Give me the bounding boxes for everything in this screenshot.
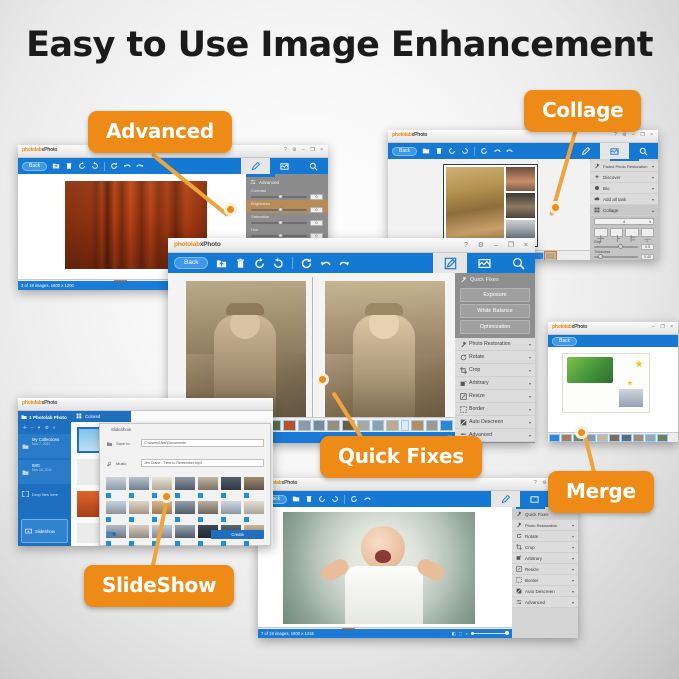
slider-track[interactable] bbox=[251, 209, 307, 211]
layout-1-3[interactable] bbox=[610, 228, 624, 237]
titlebar: photolabxPhoto ? ⚙ – ❐ × bbox=[168, 238, 535, 253]
chevron-down-icon[interactable]: ▾ bbox=[529, 381, 531, 386]
photo-after[interactable] bbox=[325, 281, 445, 421]
dialog-footer[interactable]: Create bbox=[100, 525, 270, 543]
dialog-check[interactable] bbox=[152, 493, 157, 498]
slideshow-footer-label: SlideShow bbox=[35, 529, 55, 534]
dialog-thumb[interactable] bbox=[106, 477, 126, 490]
layout-2x2[interactable] bbox=[594, 228, 608, 237]
dialog-field-save-to[interactable]: Save to C:\Users\User\Documents bbox=[100, 433, 270, 453]
status-bar: 7 of 19 images, 1600 x 1215 ◧ ⬚ ⌕ bbox=[258, 629, 512, 638]
filmstrip-item[interactable] bbox=[401, 420, 409, 431]
rotate-left-icon[interactable] bbox=[78, 162, 86, 170]
callout-label: Merge bbox=[566, 479, 636, 503]
panel-row[interactable]: Add all task▾ bbox=[590, 194, 658, 205]
crop-icon bbox=[460, 367, 466, 373]
layout-3-bottom[interactable] bbox=[641, 228, 655, 237]
undo-icon[interactable] bbox=[320, 258, 331, 269]
chevron-down-icon[interactable]: ▾ bbox=[529, 420, 531, 425]
magnifier-icon[interactable]: ⌕ bbox=[466, 631, 468, 636]
wrench-icon bbox=[460, 341, 466, 347]
rotate-left-icon[interactable] bbox=[254, 258, 265, 269]
page-title: Easy to Use Image Enhancement bbox=[0, 25, 679, 65]
undo-icon[interactable] bbox=[363, 495, 371, 503]
toolbar[interactable]: Back bbox=[548, 335, 678, 347]
refresh-icon[interactable] bbox=[480, 147, 488, 155]
refresh-icon[interactable] bbox=[350, 495, 358, 503]
chevron-down-icon[interactable]: ▾ bbox=[649, 220, 651, 224]
collage-slider[interactable]: Thickness 0.40 bbox=[594, 250, 654, 260]
quickfixes-panel-header: Quick Fixes bbox=[455, 273, 535, 286]
baby-face bbox=[361, 526, 405, 570]
filmstrip-item[interactable] bbox=[597, 434, 608, 442]
dialog-field-music[interactable]: Music Jim Crane - Time to Remember.mp3 bbox=[100, 453, 270, 475]
arbitrary-icon bbox=[516, 555, 522, 561]
resize-icon bbox=[460, 393, 466, 399]
window-buttons[interactable]: ? ⚙ – ❐ × bbox=[464, 241, 530, 249]
dialog-check[interactable] bbox=[221, 493, 226, 498]
dialog-check[interactable] bbox=[175, 493, 180, 498]
editor-body bbox=[548, 347, 678, 442]
panel-row[interactable]: Rotate▾ bbox=[512, 531, 578, 542]
filmstrip-item[interactable] bbox=[426, 420, 439, 431]
sidebar-item-img[interactable]: IMG Nov 18, 2011 bbox=[18, 460, 71, 484]
resize-icon bbox=[516, 566, 522, 572]
redo-icon[interactable] bbox=[339, 258, 350, 269]
dialog-thumb[interactable] bbox=[175, 477, 195, 490]
filmstrip-item[interactable] bbox=[657, 434, 668, 442]
filmstrip-item[interactable] bbox=[621, 434, 632, 442]
dialog-check[interactable] bbox=[198, 493, 203, 498]
folder-icon bbox=[22, 437, 29, 455]
callout-collage[interactable]: Collage bbox=[524, 90, 641, 132]
photo-canvas[interactable] bbox=[562, 353, 650, 413]
dialog-check[interactable] bbox=[198, 517, 203, 522]
toolbar-divider bbox=[104, 162, 105, 171]
panel-row[interactable]: Border▾ bbox=[512, 575, 578, 586]
dialog-check[interactable] bbox=[106, 493, 111, 498]
panel-row[interactable]: Resize▾ bbox=[512, 564, 578, 575]
filmstrip-item[interactable] bbox=[440, 420, 453, 431]
rotate-icon bbox=[460, 354, 466, 360]
quickfix-buttons[interactable]: Exposure White Balance Optimization bbox=[455, 288, 535, 334]
sidebar-toolbar[interactable]: ✛ – ✦ ⚙ ⌕ bbox=[18, 424, 71, 434]
folder-icon bbox=[22, 463, 29, 481]
dialog-thumb[interactable] bbox=[244, 501, 264, 514]
folder-icon bbox=[106, 434, 113, 452]
sliders-icon bbox=[516, 599, 522, 605]
tab-search[interactable] bbox=[501, 253, 535, 273]
photo-divider bbox=[312, 277, 313, 425]
panel-row-arbitrary[interactable]: Arbitrary▾ bbox=[455, 377, 535, 390]
titlebar: photolabxPhoto ? ⚙ – ❐ × bbox=[258, 478, 578, 491]
layout-buttons[interactable] bbox=[594, 228, 654, 237]
card-star bbox=[627, 380, 633, 386]
leader-dot-merge bbox=[575, 426, 588, 439]
panel-row-photo-restoration[interactable]: Photo Restoration▾ bbox=[455, 338, 535, 351]
dialog-thumb[interactable] bbox=[152, 477, 172, 490]
circle-icon bbox=[594, 185, 600, 191]
titlebar: photolabxPhoto – ❐ × bbox=[548, 322, 678, 335]
arbitrary-icon bbox=[460, 380, 466, 386]
tab-edit[interactable] bbox=[241, 158, 270, 174]
slideshow-dialog[interactable]: Slideshow Save to C:\Users\User\Document… bbox=[99, 423, 271, 546]
optimization-button[interactable]: Optimization bbox=[460, 320, 530, 334]
back-button[interactable]: Back bbox=[22, 162, 47, 171]
rotate-right-icon[interactable] bbox=[461, 147, 469, 155]
crop-icon bbox=[516, 544, 522, 550]
field-label: Music bbox=[116, 461, 138, 466]
advanced-panel-header: Advanced bbox=[246, 177, 328, 187]
panel-row-resize[interactable]: Resize▾ bbox=[455, 390, 535, 403]
dialog-thumb[interactable] bbox=[221, 477, 241, 490]
filmstrip-item[interactable] bbox=[633, 434, 644, 442]
toolbar[interactable]: Back bbox=[258, 491, 578, 507]
panel-row-crop[interactable]: Crop▾ bbox=[455, 364, 535, 377]
minus-icon[interactable]: – bbox=[31, 425, 33, 431]
status-text: 3 of 19 images, 1600 x 1200 bbox=[21, 283, 74, 288]
photo-canvas[interactable] bbox=[283, 512, 475, 624]
tab-search[interactable] bbox=[629, 143, 658, 159]
dialog-thumb[interactable] bbox=[106, 501, 126, 514]
window-buttons[interactable]: – ❐ × bbox=[652, 324, 675, 330]
titlebar: photolabxPhoto bbox=[18, 398, 273, 411]
panel-row[interactable]: Bio▾ bbox=[590, 183, 658, 194]
descreen-icon bbox=[516, 588, 522, 594]
border-icon bbox=[460, 406, 466, 412]
exposure-button[interactable]: Exposure bbox=[460, 288, 530, 302]
callout-quickfixes[interactable]: Quick Fixes bbox=[320, 436, 482, 478]
panel-row[interactable]: Photo Restoration▾ bbox=[512, 520, 578, 531]
slider-item: Saturation0 bbox=[246, 213, 328, 226]
star-icon[interactable]: ✦ bbox=[37, 425, 41, 431]
tab-collage[interactable] bbox=[270, 158, 299, 174]
wrench-icon bbox=[516, 522, 522, 528]
app-brand: photolabxPhoto bbox=[22, 400, 57, 406]
fit-icon[interactable]: ◧ bbox=[452, 631, 456, 636]
slider-value[interactable]: 0 bbox=[310, 207, 323, 213]
music-note-icon bbox=[106, 454, 113, 472]
grid-icon bbox=[76, 413, 82, 420]
leader-dot-quickfixes bbox=[316, 373, 329, 386]
callout-label: Advanced bbox=[106, 119, 214, 143]
layout-2-left[interactable] bbox=[625, 228, 639, 237]
collage-canvas[interactable] bbox=[443, 164, 538, 247]
create-button[interactable]: Create bbox=[211, 530, 264, 539]
slideshow-footer-button[interactable]: SlideShow bbox=[21, 519, 68, 543]
filmstrip-item[interactable] bbox=[645, 434, 656, 442]
collage-cell[interactable] bbox=[506, 167, 535, 191]
leader-dot-advanced bbox=[224, 203, 237, 216]
sidebar-item-label: Drop files here bbox=[32, 492, 58, 497]
filmstrip-item[interactable] bbox=[545, 252, 556, 260]
rotate-right-icon[interactable] bbox=[273, 258, 284, 269]
toolbar[interactable]: Back bbox=[168, 253, 535, 273]
dialog-check[interactable] bbox=[129, 517, 134, 522]
wrench-icon bbox=[460, 276, 467, 283]
sidebar-item-sub: Nov 7, 2011 bbox=[32, 442, 59, 446]
filmstrip-item[interactable] bbox=[411, 420, 424, 431]
editor-body: Quick Fixes Photo Restoration▾ Rotate▾ C… bbox=[258, 507, 578, 638]
tab-collage[interactable] bbox=[520, 491, 549, 507]
quickfixes-panel[interactable]: Quick Fixes Exposure White Balance Optim… bbox=[455, 273, 535, 443]
white-balance-button[interactable]: White Balance bbox=[460, 304, 530, 318]
open-folder-icon[interactable] bbox=[216, 258, 227, 269]
dialog-check[interactable] bbox=[244, 517, 249, 522]
callout-label: SlideShow bbox=[102, 573, 216, 597]
toolbar-divider bbox=[344, 495, 345, 504]
tab-strip[interactable] bbox=[571, 143, 658, 159]
chevron-down-icon[interactable]: ▾ bbox=[529, 355, 531, 360]
cloud-icon bbox=[594, 196, 600, 202]
add-photos-icon[interactable] bbox=[106, 525, 117, 543]
delete-icon[interactable] bbox=[65, 162, 73, 170]
card-star bbox=[635, 360, 643, 368]
chevron-down-icon[interactable]: ▾ bbox=[529, 342, 531, 347]
rotate-left-icon[interactable] bbox=[318, 495, 326, 503]
slider-track[interactable] bbox=[594, 246, 638, 248]
panel-row[interactable]: Arbitrary▾ bbox=[512, 553, 578, 564]
slideshow-icon bbox=[25, 522, 32, 540]
filmstrip[interactable] bbox=[548, 432, 678, 442]
dialog-check[interactable] bbox=[244, 493, 249, 498]
chevron-down-icon[interactable]: ▾ bbox=[529, 368, 531, 373]
callout-advanced[interactable]: Advanced bbox=[88, 111, 232, 153]
filmstrip-item[interactable] bbox=[549, 434, 560, 442]
slider-track[interactable] bbox=[251, 235, 307, 237]
delete-icon[interactable] bbox=[435, 147, 443, 155]
card-window[interactable]: photolabxPhoto – ❐ × Back bbox=[548, 322, 678, 442]
filmstrip-item[interactable] bbox=[298, 420, 311, 431]
filmstrip-item[interactable] bbox=[313, 420, 326, 431]
panel-row[interactable]: Discover▾ bbox=[590, 172, 658, 183]
sliders-icon bbox=[250, 179, 256, 185]
collage-panel[interactable]: Faded Photo Restoration▾ Discover▾ Bio▾ … bbox=[590, 159, 658, 260]
card-art bbox=[567, 357, 613, 383]
chevron-down-icon[interactable]: ▾ bbox=[529, 394, 531, 399]
grid-icon bbox=[594, 207, 600, 213]
tab-strip[interactable] bbox=[241, 158, 328, 174]
gear-icon[interactable]: ⚙ bbox=[45, 425, 49, 431]
dialog-thumb[interactable] bbox=[198, 501, 218, 514]
collage-controls[interactable]: 4 ▾ Gap 0.5 Thickness 0.40 bbox=[590, 216, 658, 260]
filmstrip-item[interactable] bbox=[386, 420, 399, 431]
dialog-check[interactable] bbox=[129, 493, 134, 498]
callout-label: Collage bbox=[542, 98, 623, 122]
dialog-thumb[interactable] bbox=[221, 501, 241, 514]
open-folder-icon[interactable] bbox=[422, 147, 430, 155]
dialog-thumb[interactable] bbox=[198, 477, 218, 490]
panel-row[interactable]: Crop▾ bbox=[512, 542, 578, 553]
slider-value[interactable]: 0.40 bbox=[641, 254, 654, 260]
dialog-check[interactable] bbox=[175, 517, 180, 522]
dialog-title: Slideshow bbox=[100, 424, 270, 433]
app-brand: photolabxPhoto bbox=[22, 147, 57, 153]
redo-icon[interactable] bbox=[506, 147, 514, 155]
sidebar-header: 1 Photolab Photo bbox=[18, 411, 71, 424]
slider-track[interactable] bbox=[594, 256, 638, 258]
search-icon[interactable]: ⌕ bbox=[53, 425, 55, 431]
refresh-icon[interactable] bbox=[301, 258, 312, 269]
slideshow-window[interactable]: photolabxPhoto 1 Photolab Photo ✛ – ✦ ⚙ … bbox=[18, 398, 273, 546]
dialog-thumb[interactable] bbox=[244, 477, 264, 490]
dialog-thumb[interactable] bbox=[129, 477, 149, 490]
rotate-right-icon[interactable] bbox=[91, 162, 99, 170]
window-buttons[interactable]: ? ⚙ – ❐ × bbox=[284, 147, 325, 153]
baby-mouth bbox=[375, 550, 391, 563]
refresh-icon[interactable] bbox=[110, 162, 118, 170]
filmstrip-item[interactable] bbox=[561, 434, 572, 442]
descreen-icon bbox=[460, 419, 466, 425]
panel-row[interactable]: Faded Photo Restoration▾ bbox=[590, 161, 658, 172]
leader-dot-slideshow bbox=[160, 490, 173, 503]
panel-row-border[interactable]: Border▾ bbox=[455, 403, 535, 416]
delete-icon[interactable] bbox=[305, 495, 313, 503]
window-buttons[interactable]: ? ⚙ – ❐ × bbox=[614, 132, 655, 138]
panel-row-auto-descreen[interactable]: Auto Descreen▾ bbox=[455, 416, 535, 429]
open-folder-icon[interactable] bbox=[292, 495, 300, 503]
baby-shirt bbox=[345, 566, 423, 624]
tab-search[interactable] bbox=[299, 158, 328, 174]
field-label: Save to bbox=[116, 441, 138, 446]
dashed-folder-icon bbox=[22, 491, 29, 497]
undo-icon[interactable] bbox=[123, 162, 131, 170]
slider-item: Contrast0 bbox=[246, 187, 328, 200]
library-body: 1 Photolab Photo ✛ – ✦ ⚙ ⌕ My Collection… bbox=[18, 411, 273, 546]
status-text: 7 of 19 images, 1600 x 1215 bbox=[261, 631, 314, 636]
delete-icon[interactable] bbox=[235, 258, 246, 269]
callout-merge[interactable]: Merge bbox=[548, 471, 654, 513]
merge-panel[interactable]: Quick Fixes Photo Restoration▾ Rotate▾ C… bbox=[512, 507, 578, 638]
save-to-input[interactable]: C:\Users\User\Documents bbox=[141, 439, 264, 447]
rotate-right-icon[interactable] bbox=[331, 495, 339, 503]
filmstrip-item[interactable] bbox=[372, 420, 385, 431]
app-brand: photolabxPhoto bbox=[552, 324, 587, 330]
redo-icon[interactable] bbox=[136, 162, 144, 170]
library-tab[interactable]: Colored bbox=[71, 411, 131, 422]
dialog-thumb[interactable] bbox=[175, 501, 195, 514]
panel-row[interactable]: Advanced▾ bbox=[512, 597, 578, 608]
library-sidebar[interactable]: 1 Photolab Photo ✛ – ✦ ⚙ ⌕ My Collection… bbox=[18, 411, 71, 546]
chevron-down-icon[interactable]: ▾ bbox=[529, 407, 531, 412]
panel-row-rotate[interactable]: Rotate▾ bbox=[455, 351, 535, 364]
tab-collage[interactable] bbox=[600, 143, 629, 159]
panel-row[interactable]: Auto Descreen▾ bbox=[512, 586, 578, 597]
back-button[interactable]: Back bbox=[174, 257, 208, 270]
app-brand: photolabxPhoto bbox=[392, 132, 427, 138]
border-icon bbox=[516, 577, 522, 583]
collage-cell-main[interactable] bbox=[446, 167, 504, 244]
dialog-check[interactable] bbox=[221, 517, 226, 522]
collage-cell[interactable] bbox=[506, 193, 535, 217]
callout-slideshow[interactable]: SlideShow bbox=[84, 565, 234, 607]
slider-value[interactable]: 0.5 bbox=[641, 244, 654, 250]
wrench-icon bbox=[594, 163, 600, 169]
slider-value[interactable]: 0 bbox=[310, 220, 323, 226]
wrench-icon bbox=[516, 511, 522, 517]
slider-track[interactable] bbox=[251, 196, 307, 198]
app-brand: photolabxPhoto bbox=[174, 241, 221, 248]
callout-label: Quick Fixes bbox=[338, 444, 464, 468]
tab-edit[interactable] bbox=[571, 143, 600, 159]
filmstrip-item[interactable] bbox=[283, 420, 296, 431]
toolbar[interactable]: Back bbox=[388, 143, 658, 159]
sidebar-item-my-collections[interactable]: My Collections Nov 7, 2011 bbox=[18, 434, 71, 458]
template-select[interactable]: 4 ▾ bbox=[594, 218, 654, 225]
card-photo bbox=[618, 388, 644, 408]
dialog-thumb[interactable] bbox=[129, 501, 149, 514]
zoom-slider[interactable] bbox=[471, 633, 509, 634]
merge-window[interactable]: photolabxPhoto ? ⚙ – ❐ × Back Quick Fixe… bbox=[258, 478, 578, 638]
zoom-controls[interactable]: ◧ ⬚ ⌕ bbox=[452, 631, 509, 636]
filmstrip-item[interactable] bbox=[327, 420, 340, 431]
rotate-left-icon[interactable] bbox=[448, 147, 456, 155]
sparkle-icon bbox=[594, 174, 600, 180]
tool-rows[interactable]: Photo Restoration▾ Rotate▾ Crop▾ Arbitra… bbox=[455, 338, 535, 442]
tab-edit[interactable] bbox=[433, 253, 467, 273]
back-button[interactable]: Back bbox=[552, 337, 577, 346]
filmstrip-item[interactable] bbox=[609, 434, 620, 442]
undo-icon[interactable] bbox=[493, 147, 501, 155]
tab-edit[interactable] bbox=[491, 491, 520, 507]
sidebar-item-drop-files[interactable]: Drop files here bbox=[18, 487, 71, 501]
collage-section-header[interactable]: Collage▴ bbox=[590, 205, 658, 216]
plus-icon[interactable]: ✛ bbox=[23, 425, 27, 431]
open-folder-icon[interactable] bbox=[52, 162, 60, 170]
slider-item: Brightness0 bbox=[246, 200, 328, 213]
canvas-backdrop bbox=[18, 174, 65, 270]
music-input[interactable]: Jim Crane - Time to Remember.mp3 bbox=[141, 459, 264, 467]
tab-strip[interactable] bbox=[433, 253, 535, 273]
dialog-check[interactable] bbox=[106, 517, 111, 522]
folder-icon bbox=[21, 414, 27, 421]
tab-collage[interactable] bbox=[467, 253, 501, 273]
slider-value[interactable]: 0 bbox=[310, 194, 323, 200]
dialog-check[interactable] bbox=[152, 517, 157, 522]
actual-size-icon[interactable]: ⬚ bbox=[459, 631, 463, 636]
sidebar-item-sub: Nov 18, 2011 bbox=[32, 468, 52, 472]
slider-track[interactable] bbox=[251, 222, 307, 224]
back-button[interactable]: Back bbox=[392, 147, 417, 156]
toolbar-divider bbox=[474, 147, 475, 156]
chevron-down-icon[interactable]: ▾ bbox=[529, 433, 531, 438]
toolbar-divider bbox=[292, 257, 293, 269]
rotate-icon bbox=[516, 533, 522, 539]
leader-dot-collage bbox=[549, 201, 562, 214]
